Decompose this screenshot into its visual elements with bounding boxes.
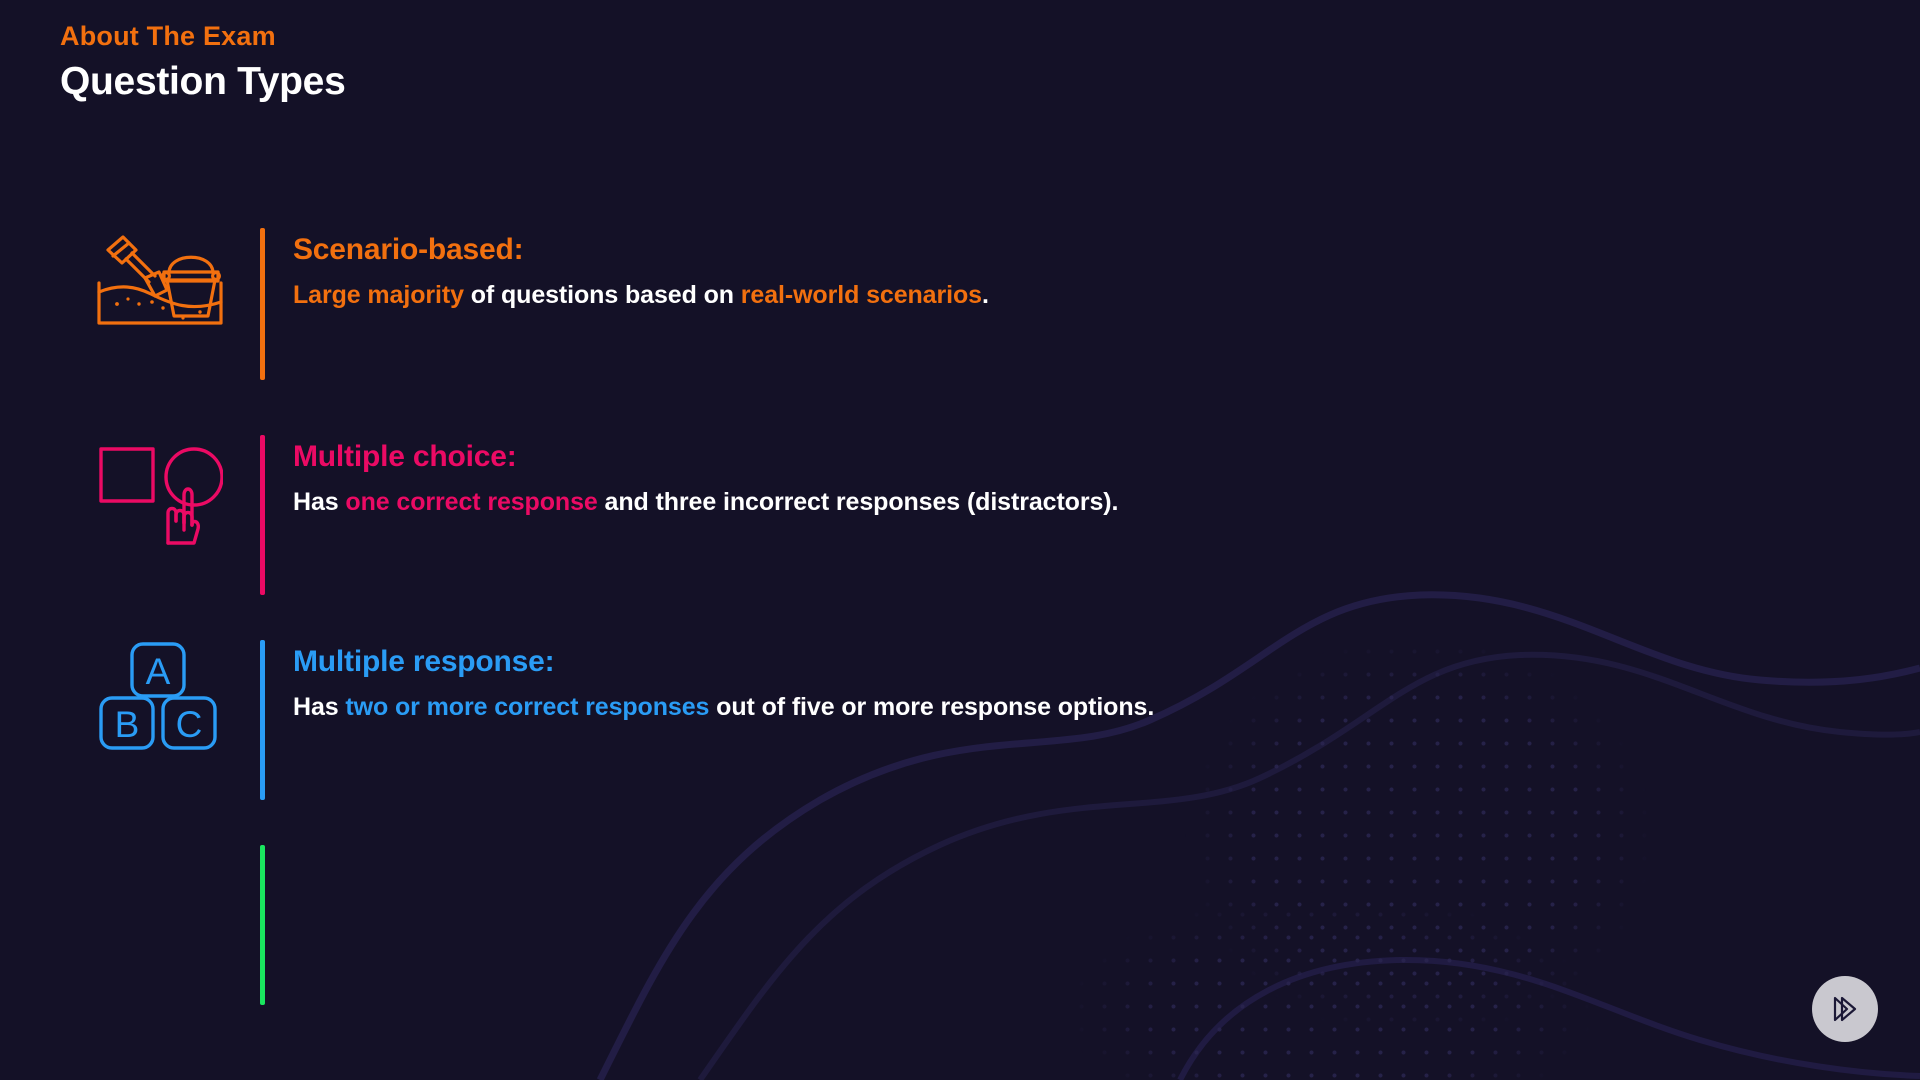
desc-highlight: Large majority <box>293 281 464 309</box>
halftone-dot-pattern-upper <box>1150 640 1710 1080</box>
desc-highlight: one correct response <box>345 488 597 516</box>
play-forward-icon <box>1828 992 1862 1026</box>
text-cell: Scenario-based: Large majority of questi… <box>265 228 989 313</box>
list-item-multiple-choice: Multiple choice: Has one correct respons… <box>60 435 1118 570</box>
row-title: Multiple response: <box>293 642 1154 681</box>
row-title: Scenario-based: <box>293 230 989 269</box>
desc-text: and three incorrect responses (distracto… <box>598 488 1119 516</box>
desc-text: Has <box>293 693 345 721</box>
desc-highlight: real-world scenarios <box>741 281 982 309</box>
icon-cell <box>60 435 260 547</box>
desc-text: out of five or more response options. <box>709 693 1154 721</box>
text-cell-empty <box>265 845 293 847</box>
list-item-scenario-based: Scenario-based: Large majority of questi… <box>60 228 989 358</box>
text-cell: Multiple response: Has two or more corre… <box>265 640 1154 725</box>
abc-keys-icon: A B C <box>99 640 221 750</box>
halftone-dot-pattern-lower <box>1070 880 1690 1080</box>
desc-text: Has <box>293 488 345 516</box>
icon-cell: A B C <box>60 640 260 750</box>
page-title: Question Types <box>60 58 345 107</box>
abc-key-letter-b: B <box>115 704 140 745</box>
accent-bar-green <box>260 845 265 1005</box>
checkbox-radio-pointing-hand-icon <box>98 435 223 547</box>
section-eyebrow: About The Exam <box>60 20 345 54</box>
icon-cell <box>60 228 260 328</box>
desc-highlight: two or more correct responses <box>345 693 709 721</box>
desc-text: . <box>982 281 989 309</box>
list-item-pending <box>60 845 293 1005</box>
desc-text: of questions based on <box>464 281 741 309</box>
abc-key-letter-c: C <box>176 704 203 745</box>
list-item-multiple-response: A B C Multiple response: Has two or more… <box>60 640 1154 775</box>
row-description: Has two or more correct responses out of… <box>293 691 1154 725</box>
text-cell: Multiple choice: Has one correct respons… <box>265 435 1118 520</box>
row-description: Has one correct response and three incor… <box>293 486 1118 520</box>
row-description: Large majority of questions based on rea… <box>293 279 989 313</box>
row-title: Multiple choice: <box>293 437 1118 476</box>
abc-key-letter-a: A <box>146 651 171 692</box>
page-header: About The Exam Question Types <box>60 20 345 107</box>
play-forward-button[interactable] <box>1812 976 1878 1042</box>
sandbox-bucket-shovel-icon <box>95 228 225 328</box>
